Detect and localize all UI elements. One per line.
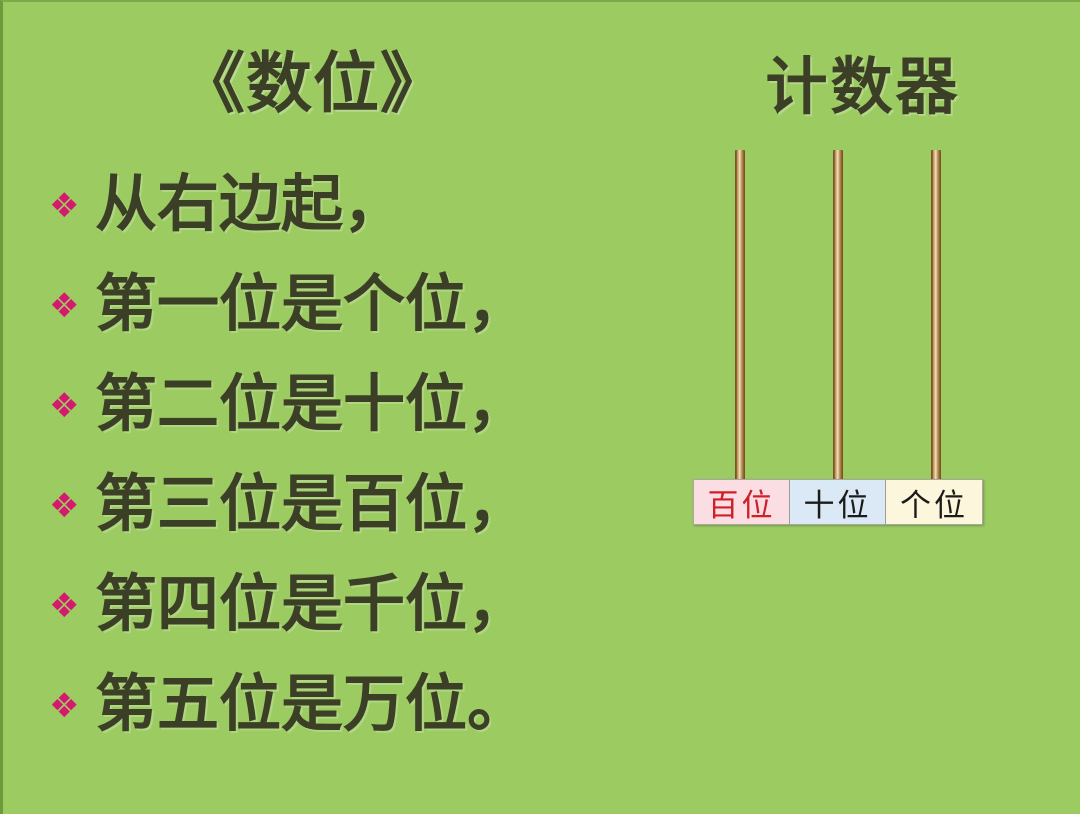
- list-item-label: 从右边起，: [95, 173, 649, 235]
- place-value-cell-ones: 个位: [886, 480, 982, 524]
- place-value-cell-hundreds: 百位: [694, 480, 790, 524]
- list-item: ❖ 第一位是个位，: [49, 254, 649, 354]
- list-item: ❖ 第二位是十位，: [49, 354, 649, 454]
- list-item: ❖ 第三位是百位，: [49, 454, 649, 554]
- tens-rod-icon: [833, 150, 843, 482]
- left-column: 《数位》 ❖ 从右边起， ❖ 第一位是个位， ❖ 第二位是十位， ❖ 第三位是百…: [3, 2, 663, 814]
- hundreds-rod-icon: [735, 150, 745, 482]
- list-item-label: 第一位是个位，: [95, 273, 649, 335]
- page-title-right: 计数器: [663, 36, 1063, 126]
- diamond-bullet-icon: ❖: [49, 385, 95, 423]
- right-column: 计数器 百位 十位 个位: [663, 2, 1080, 814]
- diamond-bullet-icon: ❖: [49, 285, 95, 323]
- list-item-label: 第二位是十位，: [95, 373, 649, 435]
- page-title-left: 《数位》: [3, 30, 623, 126]
- place-value-strip: 百位 十位 个位: [693, 479, 983, 525]
- list-item: ❖ 第四位是千位，: [49, 554, 649, 654]
- place-value-rules-list: ❖ 从右边起， ❖ 第一位是个位， ❖ 第二位是十位， ❖ 第三位是百位， ❖ …: [49, 154, 649, 754]
- diamond-bullet-icon: ❖: [49, 485, 95, 523]
- slide-canvas: 《数位》 ❖ 从右边起， ❖ 第一位是个位， ❖ 第二位是十位， ❖ 第三位是百…: [0, 0, 1080, 814]
- ones-rod-icon: [931, 150, 941, 482]
- diamond-bullet-icon: ❖: [49, 185, 95, 223]
- list-item-label: 第五位是万位。: [95, 673, 649, 735]
- list-item-label: 第四位是千位，: [95, 573, 649, 635]
- place-value-cell-tens: 十位: [790, 480, 886, 524]
- list-item: ❖ 第五位是万位。: [49, 654, 649, 754]
- diamond-bullet-icon: ❖: [49, 685, 95, 723]
- diamond-bullet-icon: ❖: [49, 585, 95, 623]
- list-item: ❖ 从右边起，: [49, 154, 649, 254]
- list-item-label: 第三位是百位，: [95, 473, 649, 535]
